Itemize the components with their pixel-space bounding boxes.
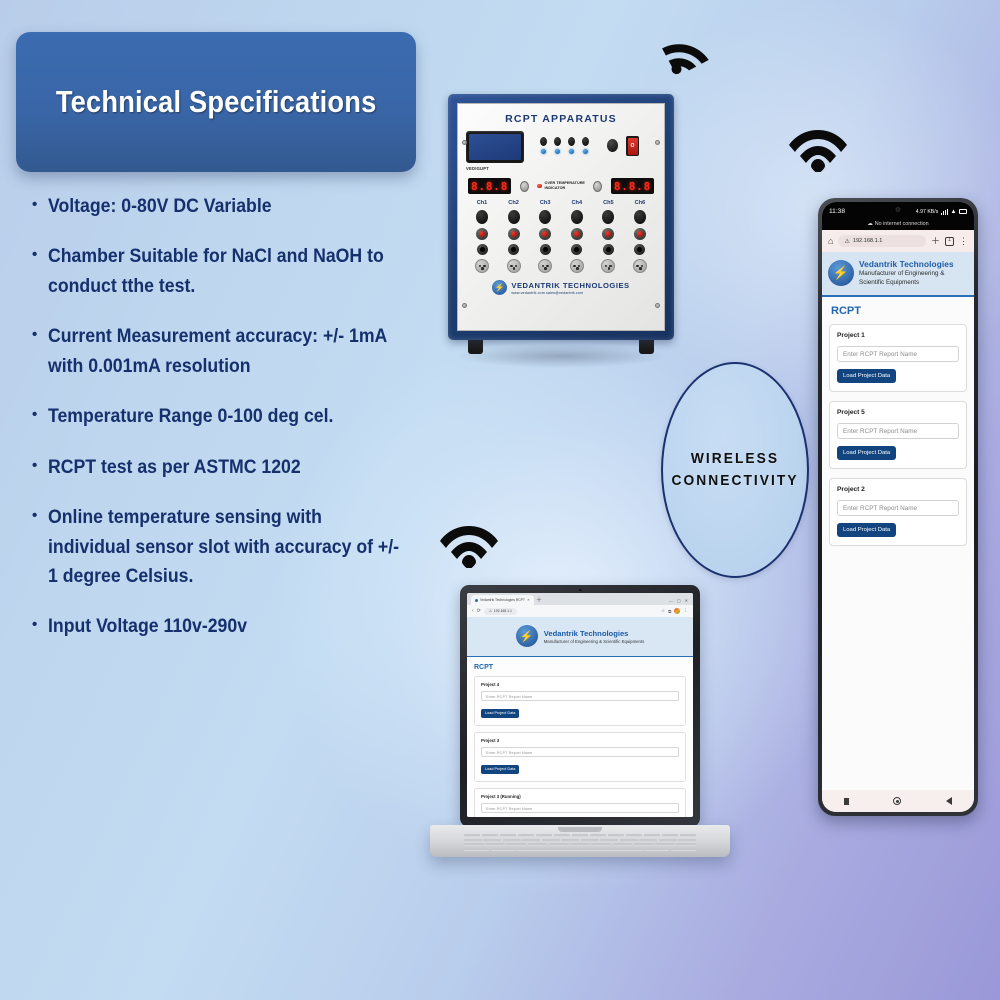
device-brand-name: VEDANTRIK TECHNOLOGIES — [511, 281, 629, 290]
favicon-icon — [475, 599, 478, 602]
company-name: Vedantrik Technologies — [544, 629, 645, 638]
tagline-line1: Manufacturer of Engineering & — [859, 270, 944, 277]
battery-icon — [959, 209, 967, 214]
vedantrik-logo-icon: ⚡ — [492, 280, 507, 295]
trimmer-pot-right[interactable] — [593, 181, 602, 192]
channel-label: Ch5 — [598, 200, 618, 206]
keyboard-row[interactable] — [464, 843, 696, 846]
device-branding: ⚡ VEDANTRIK TECHNOLOGIES www.vedantrik.c… — [458, 280, 664, 295]
cloud-off-icon: ☁ — [867, 221, 872, 227]
list-item: • Input Voltage 110v-290v — [32, 612, 432, 641]
bullet-icon: • — [32, 322, 48, 381]
sensor-socket-icon[interactable] — [634, 244, 645, 255]
channel-connectors[interactable] — [504, 210, 524, 273]
company-tagline: Manufacturer of Engineering & Scientific… — [544, 639, 645, 644]
banana-jack-red-icon[interactable] — [634, 228, 646, 240]
seven-segment-display-left: 8.8.8 — [468, 178, 511, 194]
back-arrow-icon[interactable]: ‹ — [472, 608, 474, 614]
sensor-socket-icon[interactable] — [477, 244, 488, 255]
channel-label: Ch6 — [630, 200, 650, 206]
status-indicators: 4.97 KB/s ▲ — [916, 209, 967, 215]
load-project-data-button[interactable]: Load Project Data — [837, 446, 896, 460]
control-knob[interactable] — [607, 139, 618, 152]
company-tagline: Manufacturer of Engineering & Scientific… — [859, 270, 954, 287]
load-project-data-button[interactable]: Load Project Data — [837, 523, 896, 537]
wifi-signal-icon — [649, 16, 710, 79]
browser-omnibox-bar: ⌂ ⚠ 192.168.1.1 ＋ 1 ⋮ — [822, 230, 974, 252]
android-navigation-bar — [822, 790, 974, 812]
wireless-connectivity-line2: CONNECTIVITY — [671, 470, 798, 493]
device-case: RCPT APPARATUS VEDIGUPT O — [448, 94, 674, 340]
spec-text: Online temperature sensing with individu… — [48, 503, 405, 591]
input-placeholder: Enter RCPT Report Name — [486, 806, 532, 811]
panel-screw — [462, 303, 467, 308]
banana-jack-red-icon[interactable] — [571, 228, 583, 240]
browser-tab-strip: Vedantrik Technologies RCPT ✕ ＋ — ▢ ✕ — [467, 593, 693, 605]
web-page: ⚡ Vedantrik Technologies Manufacturer of… — [467, 617, 693, 817]
keyboard-row[interactable] — [464, 839, 696, 842]
over-temperature-label: OVER TEMPERATURE INDICATOR — [545, 181, 585, 190]
list-item: • RCPT test as per ASTMC 1202 — [32, 453, 432, 482]
din-connector-icon[interactable] — [507, 259, 521, 273]
banana-jack-black-icon[interactable] — [508, 210, 520, 224]
push-button-1[interactable] — [540, 137, 547, 154]
browser-omnibox-bar: ‹ ⟳ ⚠ 192.168.1.1 ☆ ⧉ ⋮ — [467, 605, 693, 617]
over-temperature-indicator: OVER TEMPERATURE INDICATOR — [537, 181, 585, 190]
bullet-icon: • — [32, 453, 48, 482]
specifications-list: • Voltage: 0-80V DC Variable • Chamber S… — [32, 192, 432, 663]
banana-jack-black-icon[interactable] — [571, 210, 583, 224]
lcd-display-group: VEDIGUPT — [466, 131, 524, 171]
input-placeholder: Enter RCPT Report Name — [486, 750, 532, 755]
reload-icon[interactable]: ⟳ — [477, 608, 481, 614]
recents-square-icon[interactable] — [844, 798, 849, 805]
spec-text: Chamber Suitable for NaCl and NaOH to co… — [48, 242, 405, 301]
app-body: RCPT Project 1 Enter RCPT Report Name Lo… — [822, 297, 974, 790]
lcd-label: VEDIGUPT — [466, 166, 524, 171]
not-secure-warning-icon: ⚠ — [844, 238, 849, 245]
minimize-icon[interactable]: — — [669, 598, 673, 603]
tab-title: Vedantrik Technologies RCPT — [480, 598, 525, 602]
keyboard-row[interactable] — [464, 834, 696, 837]
led-indicator-icon — [569, 149, 574, 154]
wifi-icon: ▲ — [951, 209, 957, 215]
close-icon[interactable]: ✕ — [527, 598, 530, 602]
channel-connectors[interactable] — [535, 210, 555, 273]
report-name-input[interactable]: Enter RCPT Report Name — [481, 691, 679, 701]
not-secure-warning-icon: ⚠ — [489, 609, 492, 613]
push-button-group[interactable] — [540, 137, 589, 154]
trimmer-pot-left[interactable] — [520, 181, 529, 192]
project-card: Project 2 Enter RCPT Report Name Load Pr… — [829, 478, 967, 546]
laptop-keyboard[interactable] — [464, 834, 696, 853]
load-project-data-button[interactable]: Load Project Data — [837, 369, 896, 383]
overflow-menu-icon[interactable]: ⋮ — [959, 237, 968, 246]
home-circle-icon[interactable] — [893, 797, 901, 805]
spec-text: Temperature Range 0-100 deg cel. — [48, 402, 333, 431]
profile-avatar-icon[interactable] — [674, 608, 680, 614]
banana-jack-black-icon[interactable] — [539, 210, 551, 224]
url-text: 192.168.1.1 — [494, 609, 512, 613]
report-name-input[interactable]: Enter RCPT Report Name — [481, 803, 679, 813]
banana-jack-black-icon[interactable] — [602, 210, 614, 224]
channel-connectors[interactable] — [598, 210, 618, 273]
led-indicator-icon — [541, 149, 546, 154]
load-project-data-button[interactable]: Load Project Data — [481, 765, 519, 774]
app-title: RCPT — [831, 305, 967, 317]
app-header: ⚡ Vedantrik Technologies Manufacturer of… — [822, 252, 974, 297]
project-card: Project 5 Enter RCPT Report Name Load Pr… — [829, 401, 967, 469]
technical-specifications-title-box: Technical Specifications — [16, 32, 416, 172]
led-indicator-icon — [583, 149, 588, 154]
browser-tab[interactable]: Vedantrik Technologies RCPT ✕ — [471, 595, 534, 605]
app-header: ⚡ Vedantrik Technologies Manufacturer of… — [467, 617, 693, 657]
push-button-3[interactable] — [568, 137, 575, 154]
banana-jack-black-icon[interactable] — [634, 210, 646, 224]
laptop-device: Vedantrik Technologies RCPT ✕ ＋ — ▢ ✕ ‹ … — [430, 585, 730, 895]
bullet-icon: • — [32, 242, 48, 301]
din-connector-icon[interactable] — [538, 259, 552, 273]
phone-screen: 11:38 4.97 KB/s ▲ ☁ No internet connecti… — [822, 202, 974, 812]
report-name-input[interactable]: Enter RCPT Report Name — [837, 346, 959, 362]
din-connector-icon[interactable] — [475, 259, 489, 273]
phone-body: 11:38 4.97 KB/s ▲ ☁ No internet connecti… — [818, 198, 978, 816]
input-placeholder: Enter RCPT Report Name — [843, 505, 917, 512]
sensor-socket-icon[interactable] — [540, 244, 551, 255]
report-name-input[interactable]: Enter RCPT Report Name — [481, 747, 679, 757]
url-bar[interactable]: ⚠ 192.168.1.1 — [838, 235, 926, 247]
over-temperature-led-icon — [537, 184, 542, 189]
laptop-screen: Vedantrik Technologies RCPT ✕ ＋ — ▢ ✕ ‹ … — [467, 593, 693, 817]
no-internet-notice: ☁ No internet connection — [822, 221, 974, 230]
project-card: Project 4 Enter RCPT Report Name Load Pr… — [474, 676, 686, 726]
channel-connectors[interactable] — [472, 210, 492, 273]
meter-row: 8.8.8 OVER TEMPERATURE INDICATOR 8.8.8 — [458, 178, 664, 194]
led-indicator-icon — [555, 149, 560, 154]
tagline-line2: Scientific Equipments — [859, 279, 919, 286]
front-camera-icon — [896, 207, 901, 212]
wireless-connectivity-badge: WIRELESS CONNECTIVITY — [661, 362, 809, 578]
project-name: Project 3 (Running) — [481, 794, 679, 799]
channel-labels: Ch1 Ch2 Ch3 Ch4 Ch5 Ch6 — [458, 200, 664, 206]
phone-status-bar: 11:38 4.97 KB/s ▲ — [822, 202, 974, 221]
tab-count: 1 — [948, 238, 951, 244]
push-button-icon[interactable] — [568, 137, 575, 146]
panel-screw — [655, 140, 660, 145]
wireless-connectivity-line1: WIRELESS — [691, 448, 779, 471]
din-connector-icon[interactable] — [570, 259, 584, 273]
project-name: Project 5 — [837, 409, 959, 416]
project-card: Project 3 (Running) Enter RCPT Report Na… — [474, 788, 686, 817]
list-item: • Voltage: 0-80V DC Variable — [32, 192, 432, 221]
input-placeholder: Enter RCPT Report Name — [843, 351, 917, 358]
project-name: Project 3 — [481, 738, 679, 743]
channel-label: Ch4 — [567, 200, 587, 206]
no-internet-text: No internet connection — [875, 221, 929, 227]
list-item: • Online temperature sensing with indivi… — [32, 503, 432, 591]
bullet-icon: • — [32, 192, 48, 221]
spec-text: Voltage: 0-80V DC Variable — [48, 192, 272, 221]
channel-label: Ch3 — [535, 200, 555, 206]
bullet-icon: • — [32, 612, 48, 641]
channel-connector-grid — [458, 210, 664, 273]
push-button-icon[interactable] — [582, 137, 589, 146]
device-brand-url: www.vedantrik.com sales@vedantrik.com — [511, 291, 629, 295]
project-name: Project 4 — [481, 682, 679, 687]
bookmark-star-icon[interactable]: ☆ — [661, 608, 665, 614]
status-data-rate: 4.97 KB/s — [916, 209, 939, 215]
channel-connectors[interactable] — [630, 210, 650, 273]
over-temperature-line1: OVER TEMPERATURE — [545, 181, 585, 185]
list-item: • Chamber Suitable for NaCl and NaOH to … — [32, 242, 432, 301]
channel-label: Ch2 — [504, 200, 524, 206]
spec-text: Current Measurement accuracy: +/- 1mA wi… — [48, 322, 405, 381]
lcd-screen — [469, 134, 521, 160]
laptop-lid: Vedantrik Technologies RCPT ✕ ＋ — ▢ ✕ ‹ … — [460, 585, 700, 827]
apparatus-heading: RCPT APPARATUS — [458, 113, 664, 125]
channel-connectors[interactable] — [567, 210, 587, 273]
plus-icon[interactable]: ＋ — [536, 595, 542, 604]
rcpt-apparatus-device: RCPT APPARATUS VEDIGUPT O — [448, 94, 674, 359]
device-front-panel: RCPT APPARATUS VEDIGUPT O — [457, 103, 665, 331]
rocker-switch-label: O — [628, 138, 638, 155]
din-connector-icon[interactable] — [601, 259, 615, 273]
banana-jack-red-icon[interactable] — [508, 228, 520, 240]
push-button-4[interactable] — [582, 137, 589, 154]
control-row: VEDIGUPT O — [458, 131, 664, 171]
project-card: Project 1 Enter RCPT Report Name Load Pr… — [829, 324, 967, 392]
banana-jack-black-icon[interactable] — [476, 210, 488, 224]
webcam-icon — [579, 589, 582, 592]
home-icon[interactable]: ⌂ — [828, 237, 833, 246]
push-button-icon[interactable] — [554, 137, 561, 146]
panel-screw — [462, 140, 467, 145]
plus-icon[interactable]: ＋ — [931, 237, 940, 246]
keyboard-row[interactable] — [464, 848, 696, 851]
list-item: • Current Measurement accuracy: +/- 1mA … — [32, 322, 432, 381]
url-text: 192.168.1.1 — [853, 238, 883, 244]
status-time: 11:38 — [829, 208, 845, 215]
load-project-data-button[interactable]: Load Project Data — [481, 709, 519, 718]
din-connector-icon[interactable] — [633, 259, 647, 273]
sensor-socket-icon[interactable] — [603, 244, 614, 255]
bullet-icon: • — [32, 503, 48, 591]
sensor-socket-icon[interactable] — [571, 244, 582, 255]
page-title: Technical Specifications — [56, 84, 377, 120]
company-name: Vedantrik Technologies — [859, 259, 954, 269]
wifi-signal-icon — [440, 518, 498, 568]
panel-screw — [655, 303, 660, 308]
overflow-menu-icon[interactable]: ⋮ — [683, 608, 688, 614]
over-temperature-line2: INDICATOR — [545, 186, 566, 190]
close-icon[interactable]: ✕ — [685, 598, 688, 603]
app-title: RCPT — [474, 664, 693, 671]
signal-bars-icon — [941, 209, 948, 215]
project-name: Project 1 — [837, 332, 959, 339]
url-bar[interactable]: ⚠ 192.168.1.1 — [484, 608, 517, 615]
lcd-display — [466, 131, 524, 163]
laptop-base-notch — [558, 827, 602, 832]
project-card: Project 3 Enter RCPT Report Name Load Pr… — [474, 732, 686, 782]
push-button-icon[interactable] — [540, 137, 547, 146]
sensor-socket-icon[interactable] — [508, 244, 519, 255]
spec-text: Input Voltage 110v-290v — [48, 612, 247, 641]
mobile-phone-device: 11:38 4.97 KB/s ▲ ☁ No internet connecti… — [818, 198, 978, 816]
report-name-input[interactable]: Enter RCPT Report Name — [837, 423, 959, 439]
seven-segment-display-right: 8.8.8 — [611, 178, 654, 194]
back-triangle-icon[interactable] — [946, 797, 952, 805]
channel-label: Ch1 — [472, 200, 492, 206]
tab-counter[interactable]: 1 — [945, 237, 954, 246]
banana-jack-red-icon[interactable] — [602, 228, 614, 240]
vedantrik-logo-icon: ⚡ — [828, 260, 854, 286]
wifi-signal-icon — [789, 122, 847, 172]
power-rocker-switch[interactable]: O — [626, 136, 639, 156]
banana-jack-red-icon[interactable] — [539, 228, 551, 240]
banana-jack-red-icon[interactable] — [476, 228, 488, 240]
input-placeholder: Enter RCPT Report Name — [843, 428, 917, 435]
report-name-input[interactable]: Enter RCPT Report Name — [837, 500, 959, 516]
list-item: • Temperature Range 0-100 deg cel. — [32, 402, 432, 431]
vedantrik-logo-icon: ⚡ — [516, 625, 538, 647]
push-button-2[interactable] — [554, 137, 561, 154]
bullet-icon: • — [32, 402, 48, 431]
spec-text: RCPT test as per ASTMC 1202 — [48, 453, 301, 482]
extensions-icon[interactable]: ⧉ — [668, 609, 671, 614]
input-placeholder: Enter RCPT Report Name — [486, 694, 532, 699]
project-name: Project 2 — [837, 486, 959, 493]
maximize-icon[interactable]: ▢ — [677, 598, 681, 603]
laptop-base — [430, 825, 730, 857]
